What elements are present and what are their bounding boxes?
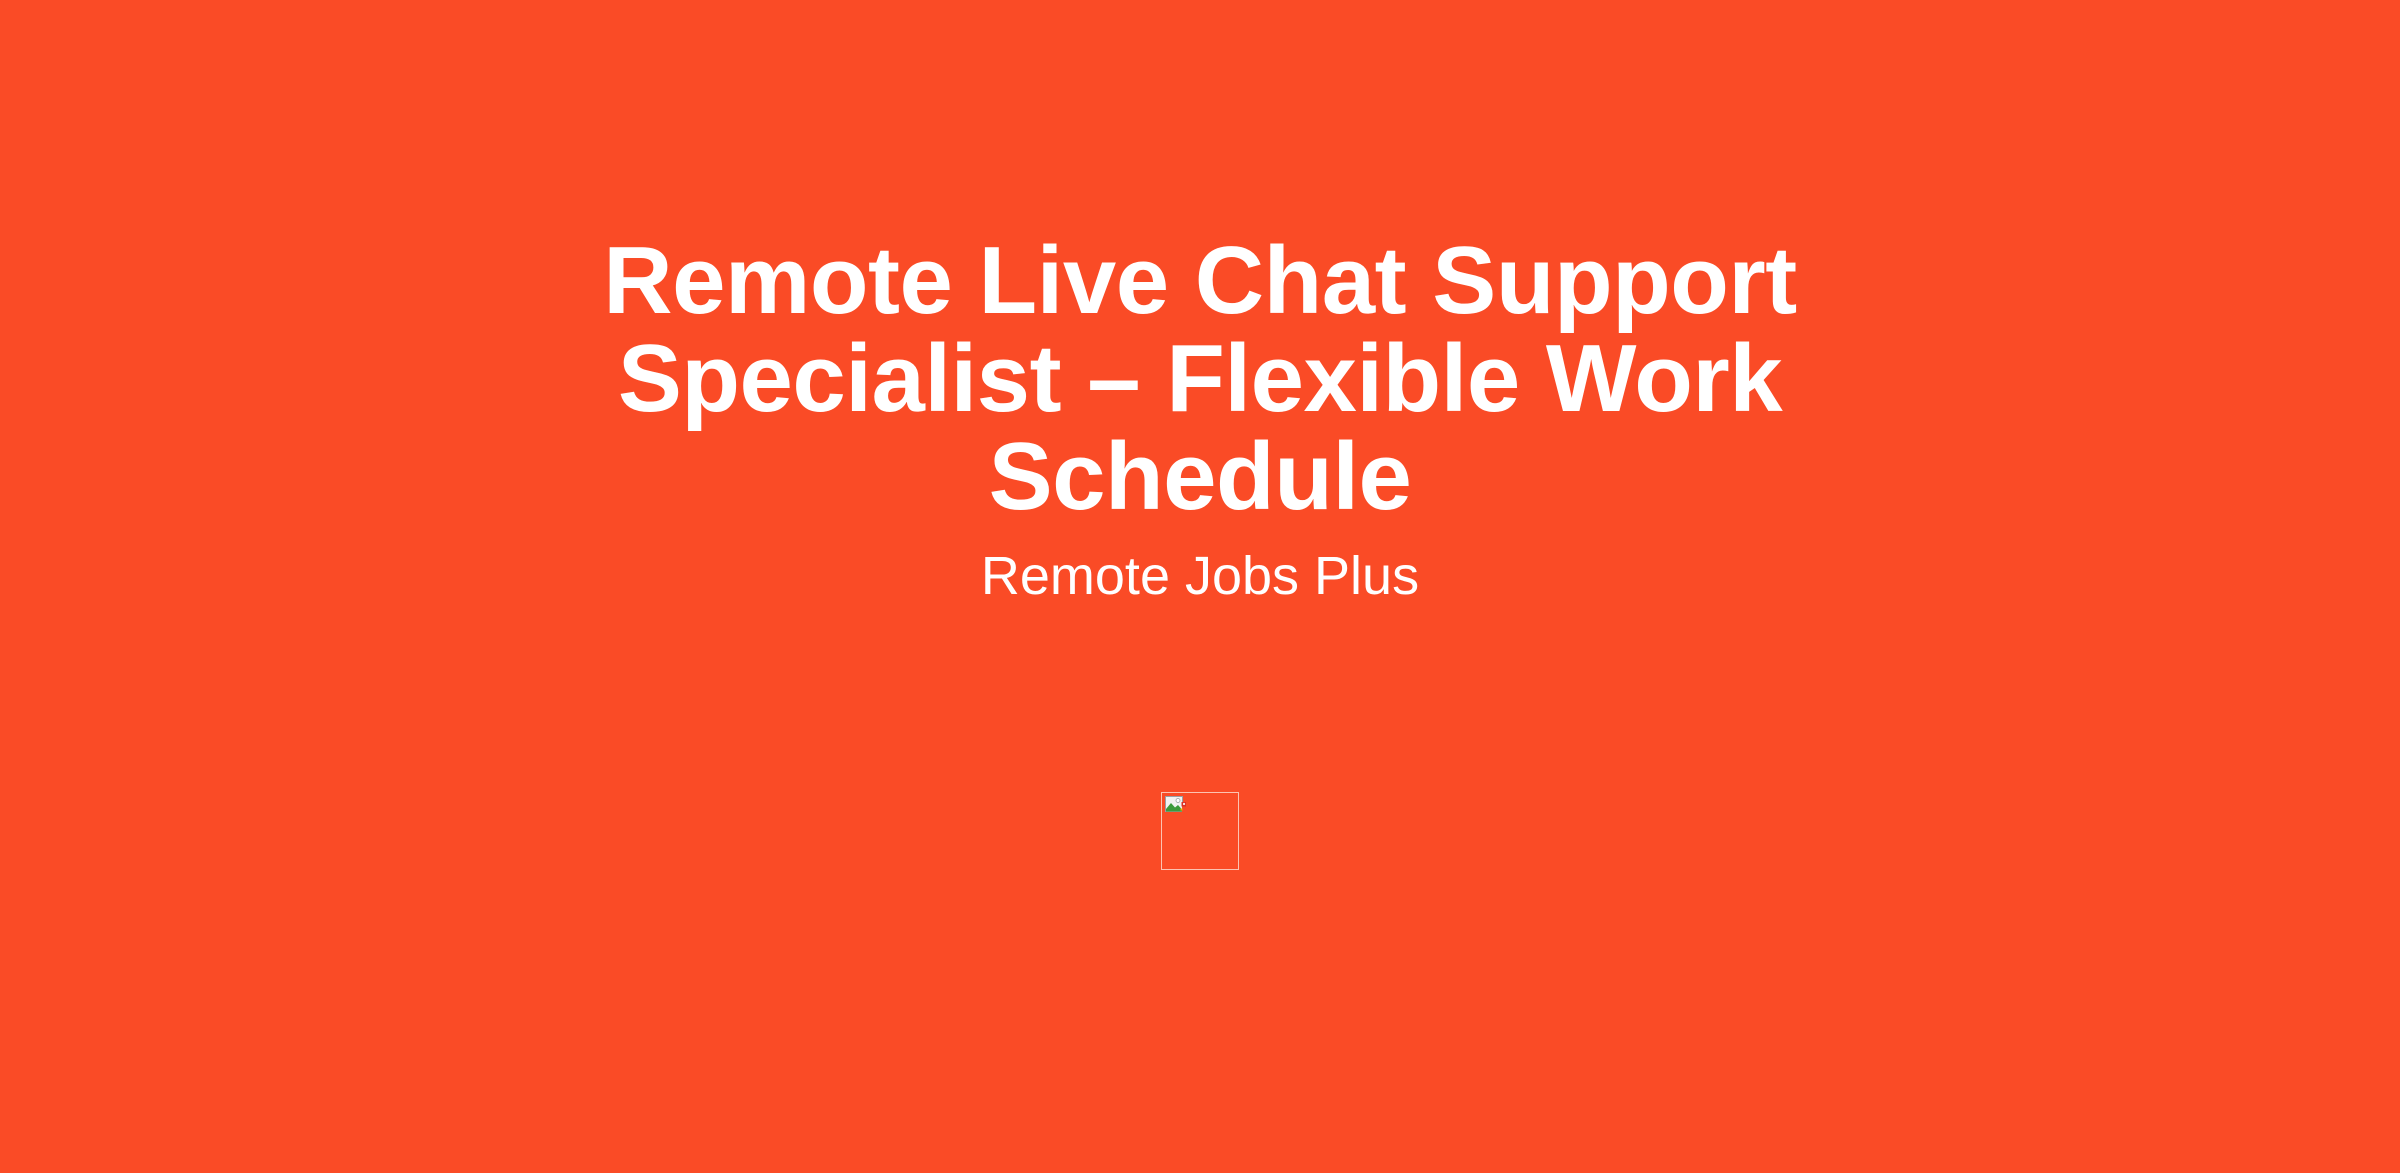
- page-title: Remote Live Chat Support Specialist – Fl…: [470, 232, 1930, 526]
- company-name: Remote Jobs Plus: [470, 526, 1930, 610]
- company-logo-placeholder[interactable]: [1161, 792, 1239, 870]
- hero-section: Remote Live Chat Support Specialist – Fl…: [470, 0, 1930, 610]
- logo-area: [0, 792, 2400, 870]
- job-posting-page: Remote Live Chat Support Specialist – Fl…: [0, 0, 2400, 1173]
- broken-image-icon: [1165, 796, 1189, 818]
